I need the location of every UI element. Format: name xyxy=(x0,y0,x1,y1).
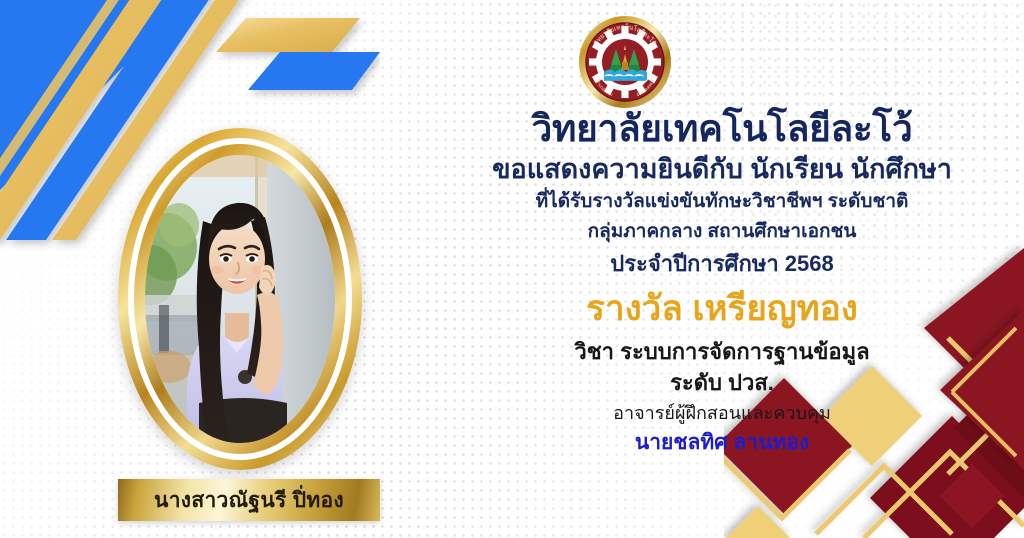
announcement-text-block: วิทยาลัยเทคโนโลยีละโว้ ขอแสดงความยินดีกั… xyxy=(420,108,1024,456)
congratulations-banner: นางสาวณัฐนรี ปิ่ทอง xyxy=(0,0,1024,538)
institution-name: วิทยาลัยเทคโนโลยีละโว้ xyxy=(420,108,1024,149)
education-level: ระดับ ปวส. xyxy=(420,368,1024,397)
student-name-label: นางสาวณัฐนรี ปิ่ทอง xyxy=(154,484,344,517)
student-nameplate: นางสาวณัฐนรี ปิ่ทอง xyxy=(118,479,380,521)
academic-year-line: ประจำปีการศึกษา 2568 xyxy=(420,250,1024,279)
student-photo xyxy=(145,155,335,443)
award-title: รางวัล เหรียญทอง xyxy=(420,288,1024,330)
student-photo-frame xyxy=(118,128,362,470)
competition-line-2: กลุ่มภาคกลาง สถานศึกษาเอกชน xyxy=(420,219,1024,246)
subject-line: วิชา ระบบการจัดการฐานข้อมูล xyxy=(420,337,1024,366)
congratulation-line: ขอแสดงความยินดีกับ นักเรียน นักศึกษา xyxy=(420,153,1024,185)
college-crest-icon: วิทยาลัยเทคโนโลยีละโว้ อำเภอเมือง จังหวั… xyxy=(573,14,677,110)
coach-name: นายชลทิศ ลานทอง xyxy=(420,429,1024,456)
coach-label: อาจารย์ผู้ฝึกสอนและควบคุม xyxy=(420,402,1024,425)
competition-line-1: ที่ได้รับรางวัลแข่งขันทักษะวิชาชีพฯ ระดั… xyxy=(420,189,1024,216)
